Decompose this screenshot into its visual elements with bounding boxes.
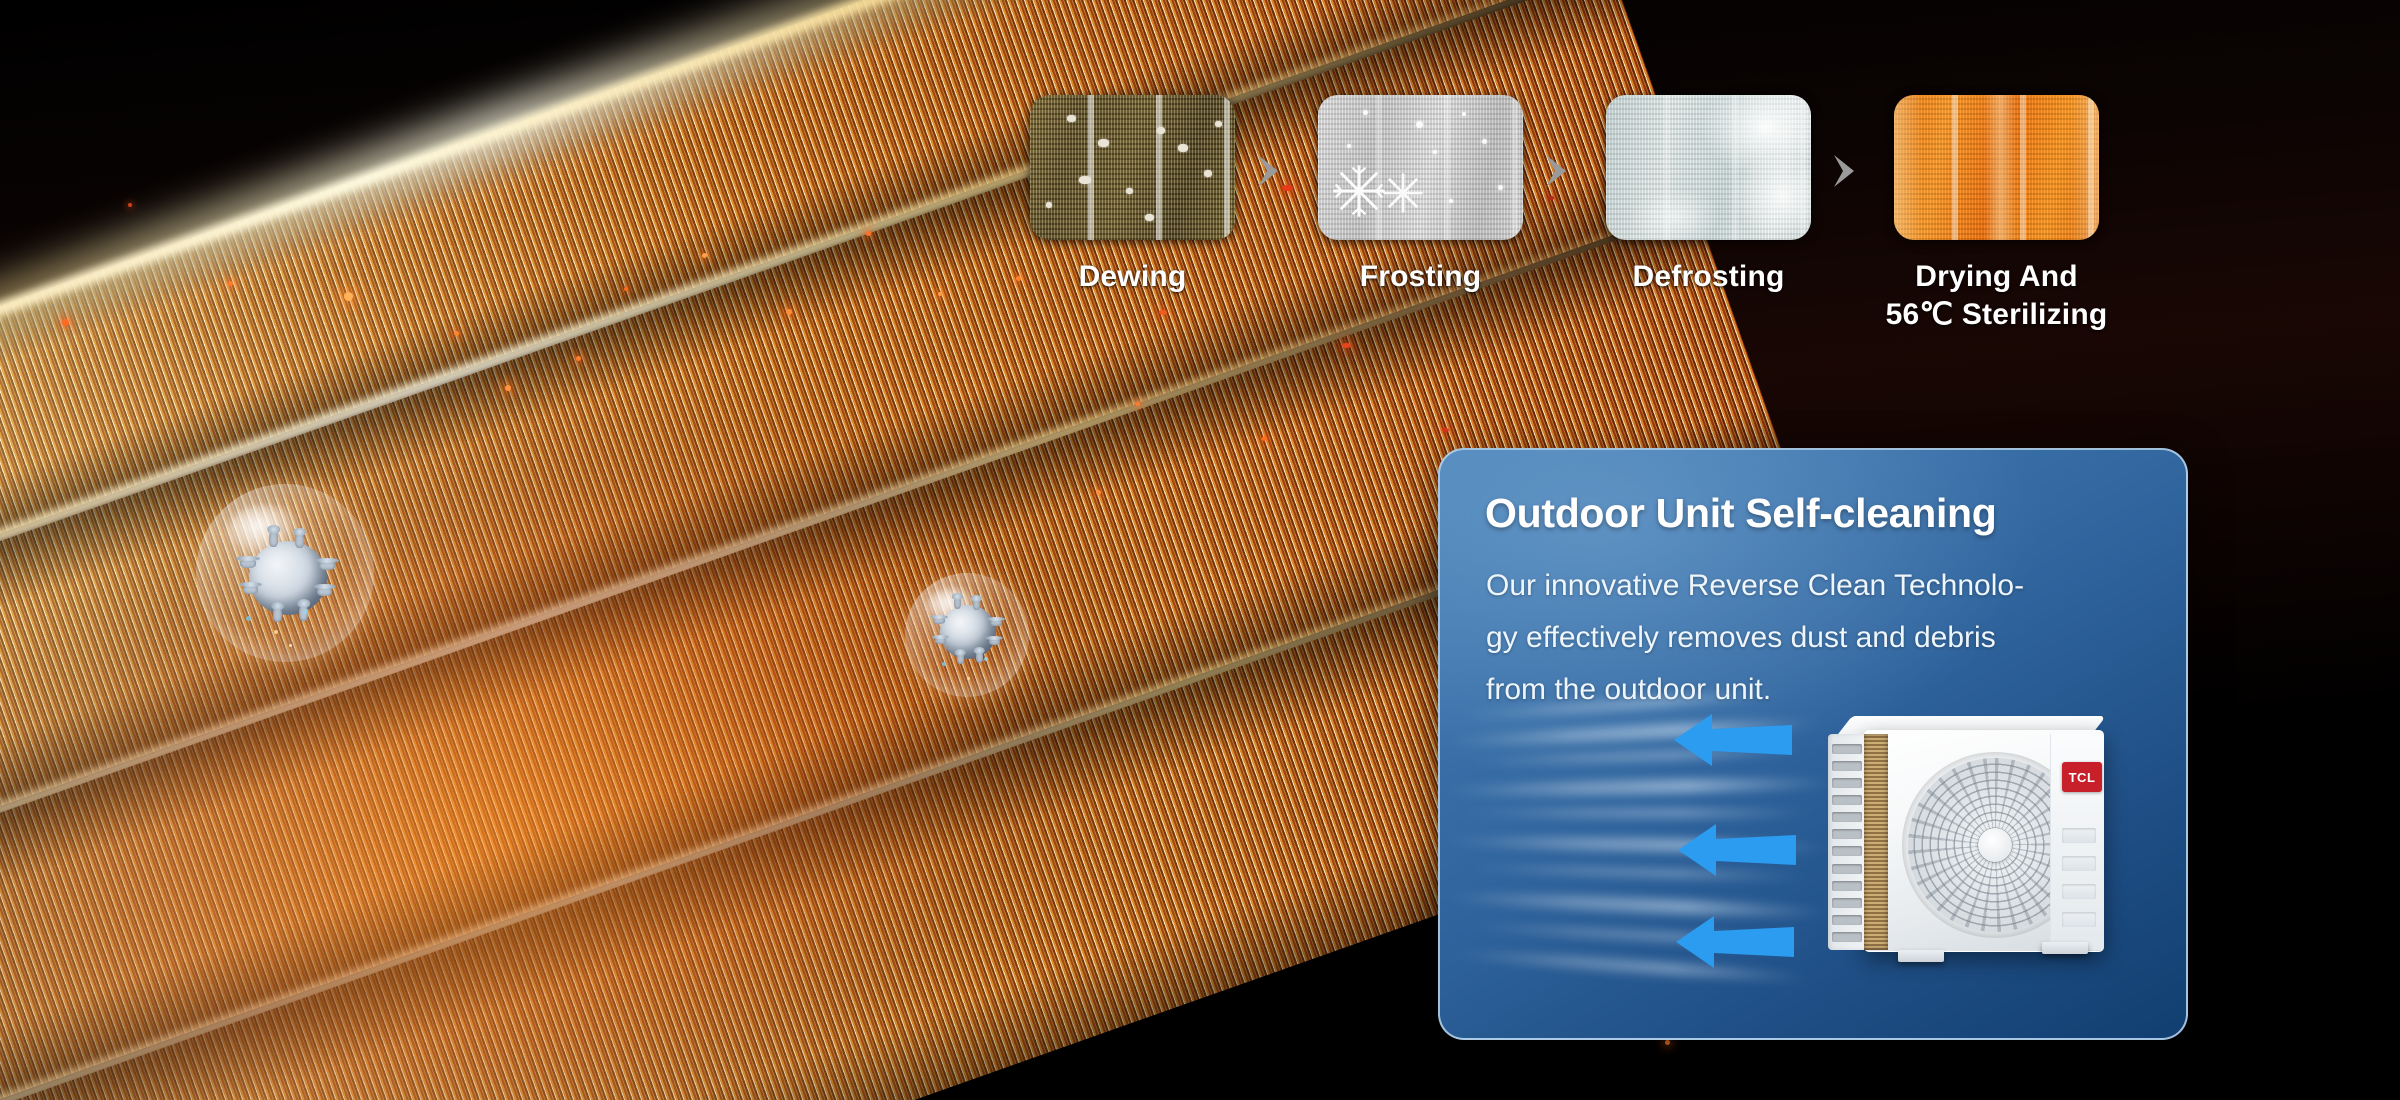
self-clean-process-steps: Dewing <box>1030 95 2210 345</box>
chevron-right-icon <box>1542 153 1576 189</box>
chevron-right-icon <box>1254 153 1288 189</box>
process-step[interactable]: Dewing <box>1030 95 1235 296</box>
chevron-right-icon <box>1830 153 1864 189</box>
card-description-line: gy effectively removes dust and debris <box>1486 612 2158 664</box>
virus-in-bubble-icon <box>196 484 374 662</box>
airflow-arrow-left-icon <box>1678 822 1796 878</box>
dirty-fins-icon <box>1030 95 1235 240</box>
outdoor-ac-unit-icon: TCL <box>1806 712 2106 982</box>
heated-fins-icon <box>1894 95 2099 240</box>
melting-ice-fins-icon <box>1606 95 1811 240</box>
card-description-line: Our innovative Reverse Clean Technolo- <box>1486 560 2158 612</box>
process-step[interactable]: Defrosting <box>1606 95 1811 296</box>
process-step-label: Dewing <box>1030 258 1235 296</box>
card-description: Our innovative Reverse Clean Technolo- g… <box>1486 560 2158 716</box>
airflow-arrow-left-icon <box>1676 914 1794 970</box>
process-step[interactable]: Drying And 56℃ Sterilizing <box>1894 95 2119 334</box>
card-title: Outdoor Unit Self-cleaning <box>1485 490 2155 537</box>
airflow-arrow-left-icon <box>1674 712 1792 768</box>
process-step-label: Defrosting <box>1606 258 1811 296</box>
process-step-label: Drying And 56℃ Sterilizing <box>1884 258 2109 334</box>
snowflake-fins-icon <box>1318 95 1523 240</box>
outdoor-unit-self-cleaning-card: Outdoor Unit Self-cleaning Our innovativ… <box>1438 448 2188 1040</box>
tcl-logo: TCL <box>2062 762 2102 792</box>
process-step[interactable]: Frosting <box>1318 95 1523 296</box>
process-step-label: Frosting <box>1318 258 1523 296</box>
virus-in-bubble-icon <box>905 573 1029 697</box>
